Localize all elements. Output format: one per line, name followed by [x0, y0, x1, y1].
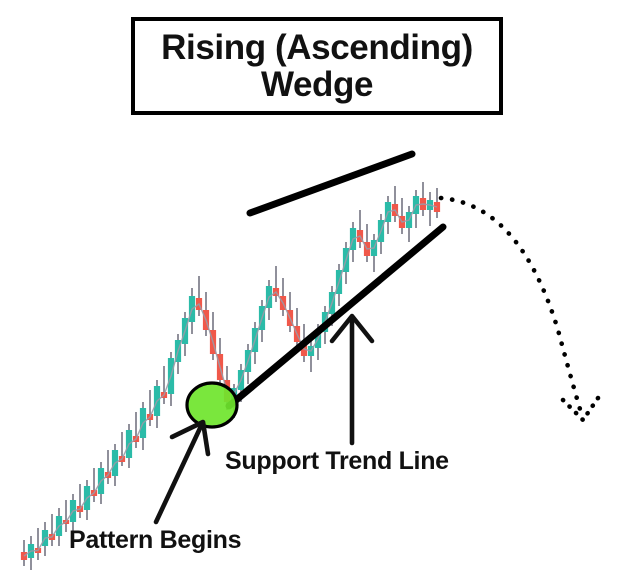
breakdown-arrowhead-right	[583, 398, 598, 420]
title-line-1: Rising (Ascending)	[161, 29, 473, 66]
pattern-begins-arrow	[156, 422, 208, 522]
support-trend-line-label: Support Trend Line	[225, 447, 449, 476]
title-line-2: Wedge	[261, 66, 373, 103]
pattern-begins-label: Pattern Begins	[69, 526, 241, 555]
figure-canvas: Rising (Ascending) Wedge Support Trend L…	[0, 0, 624, 585]
pattern-start-highlight	[187, 383, 237, 427]
support-trend-line-arrow	[332, 316, 372, 443]
breakdown-projection-curve	[441, 198, 582, 416]
title-box: Rising (Ascending) Wedge	[131, 17, 503, 115]
